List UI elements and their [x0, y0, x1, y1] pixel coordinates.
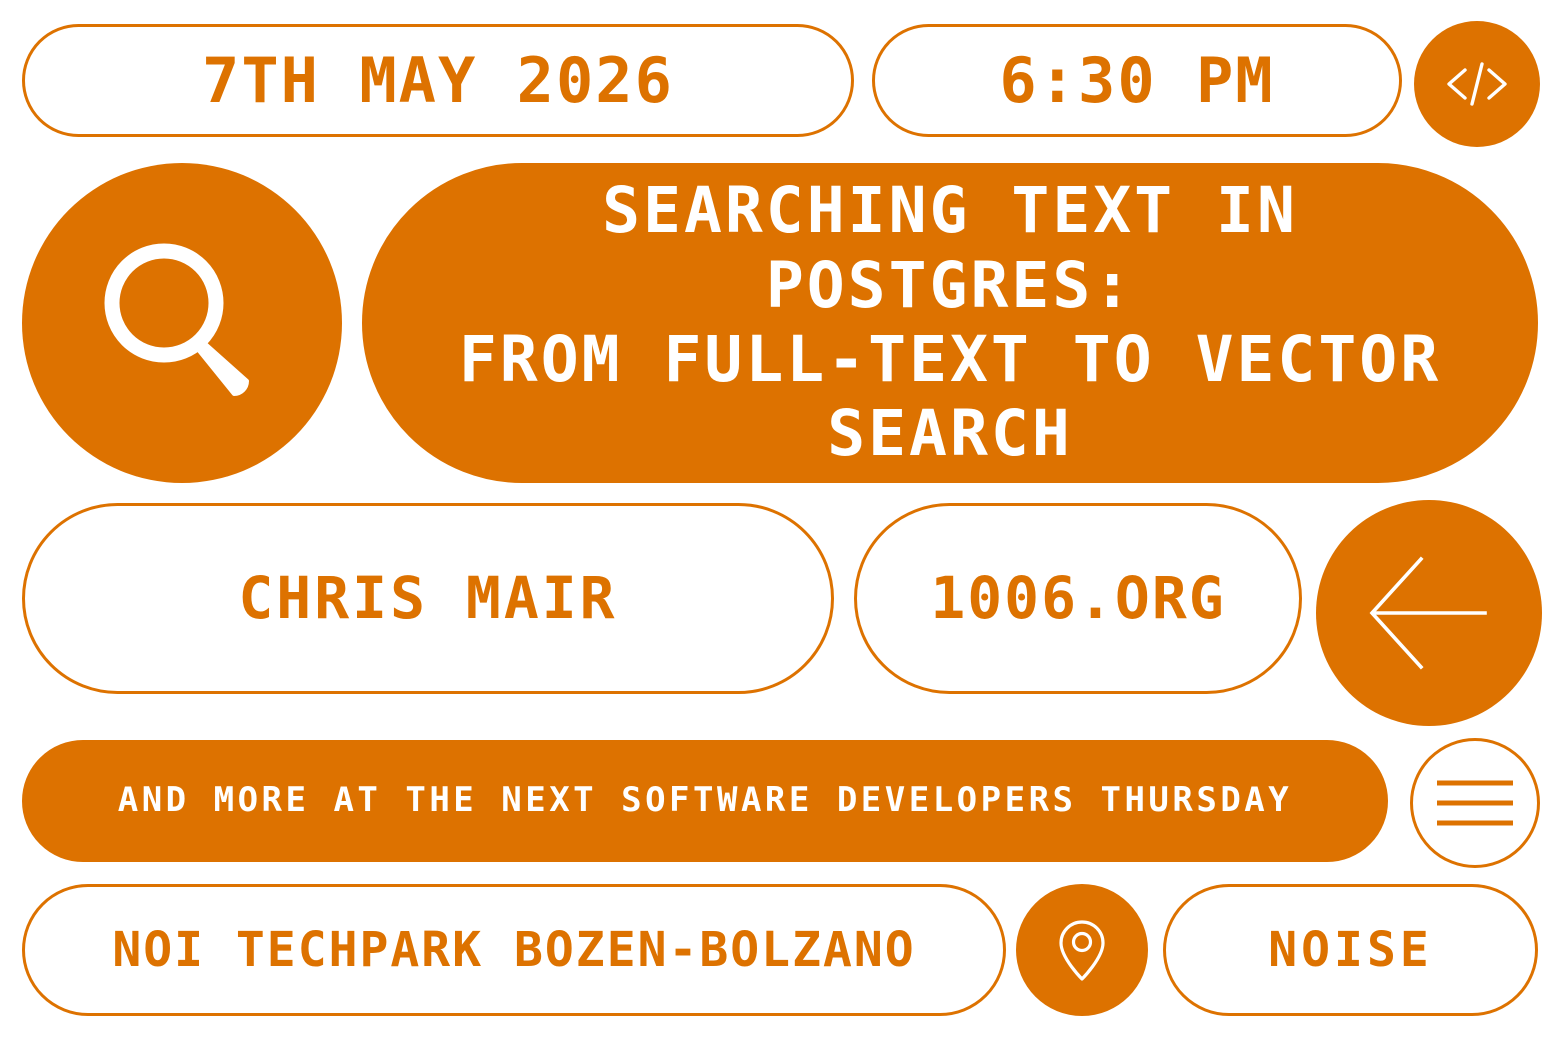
speaker-name-label: CHRIS MAIR [238, 568, 617, 629]
event-title-pill: SEARCHING TEXT IN POSTGRES: FROM FULL-TE… [362, 163, 1538, 483]
event-title-line-1: SEARCHING TEXT IN POSTGRES: [399, 174, 1501, 323]
event-time-label: 6:30 PM [999, 48, 1274, 113]
code-icon [1438, 45, 1516, 123]
event-date-label: 7TH MAY 2026 [202, 48, 674, 113]
location-pin-badge[interactable] [1016, 884, 1148, 1016]
hamburger-menu-icon [1433, 773, 1517, 833]
venue-pill: NOI TECHPARK BOZEN-BOLZANO [22, 884, 1006, 1016]
organizer-label: NOISE [1268, 925, 1433, 975]
arrow-left-icon [1359, 543, 1499, 683]
event-time-pill: 6:30 PM [872, 24, 1402, 137]
event-date-pill: 7TH MAY 2026 [22, 24, 854, 137]
arrow-left-badge[interactable] [1316, 500, 1542, 726]
location-pin-icon [1043, 911, 1121, 989]
event-title-line-3: SEARCH [399, 397, 1501, 471]
search-icon-badge[interactable] [22, 163, 342, 483]
speaker-name-pill: CHRIS MAIR [22, 503, 834, 694]
code-icon-badge[interactable] [1414, 21, 1540, 147]
event-title-line-2: FROM FULL-TEXT TO VECTOR [399, 323, 1501, 397]
event-poster: 7TH MAY 2026 6:30 PM SEARCHING TEXT IN P… [0, 0, 1560, 1040]
event-title: SEARCHING TEXT IN POSTGRES: FROM FULL-TE… [399, 174, 1501, 471]
hamburger-menu-badge[interactable] [1410, 738, 1540, 868]
venue-label: NOI TECHPARK BOZEN-BOLZANO [112, 925, 915, 975]
speaker-website-label: 1006.ORG [930, 568, 1225, 629]
search-icon [84, 225, 280, 421]
banner-label: AND MORE AT THE NEXT SOFTWARE DEVELOPERS… [118, 783, 1293, 819]
organizer-pill[interactable]: NOISE [1163, 884, 1538, 1016]
speaker-website-pill[interactable]: 1006.ORG [854, 503, 1302, 694]
banner-pill: AND MORE AT THE NEXT SOFTWARE DEVELOPERS… [22, 740, 1388, 862]
